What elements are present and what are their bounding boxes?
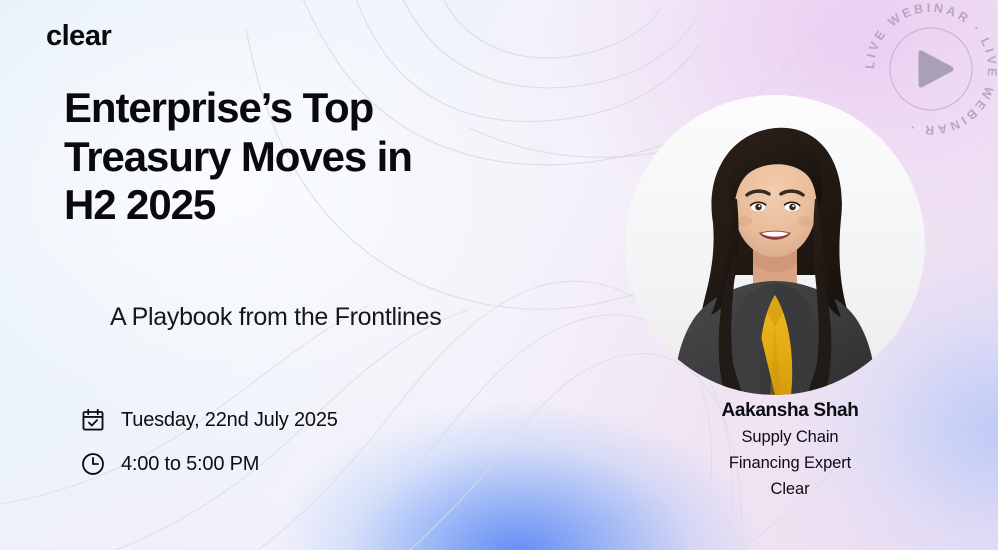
event-time-row: 4:00 to 5:00 PM [80,442,338,486]
event-time-text: 4:00 to 5:00 PM [121,453,259,476]
clear-logo[interactable]: clear [46,20,111,53]
page-title: Enterprise’s Top Treasury Moves in H2 20… [64,84,624,230]
speaker-name: Aakansha Shah [640,398,940,424]
webinar-banner: clear Enterprise’s Top Treasury Moves in… [0,0,998,550]
live-webinar-badge[interactable]: LIVE WEBINAR · LIVE WEBINAR · [856,0,998,144]
calendar-check-icon [80,407,106,433]
play-icon[interactable] [921,53,951,85]
event-date-text: Tuesday, 22nd July 2025 [121,409,338,432]
speaker-role-line-2: Financing Expert [640,450,940,476]
speaker-role-line-1: Supply Chain [640,424,940,450]
speaker-info: Aakansha Shah Supply Chain Financing Exp… [640,398,940,502]
subtitle: A Playbook from the Frontlines [110,303,441,332]
headline-line-1: Enterprise’s Top [64,84,624,133]
event-details: Tuesday, 22nd July 2025 4:00 to 5:00 PM [80,398,338,486]
headline-line-3: H2 2025 [64,181,624,230]
speaker-organization: Clear [640,476,940,502]
clock-icon [80,451,106,477]
event-date-row: Tuesday, 22nd July 2025 [80,398,338,442]
headline-line-2: Treasury Moves in [64,133,624,182]
